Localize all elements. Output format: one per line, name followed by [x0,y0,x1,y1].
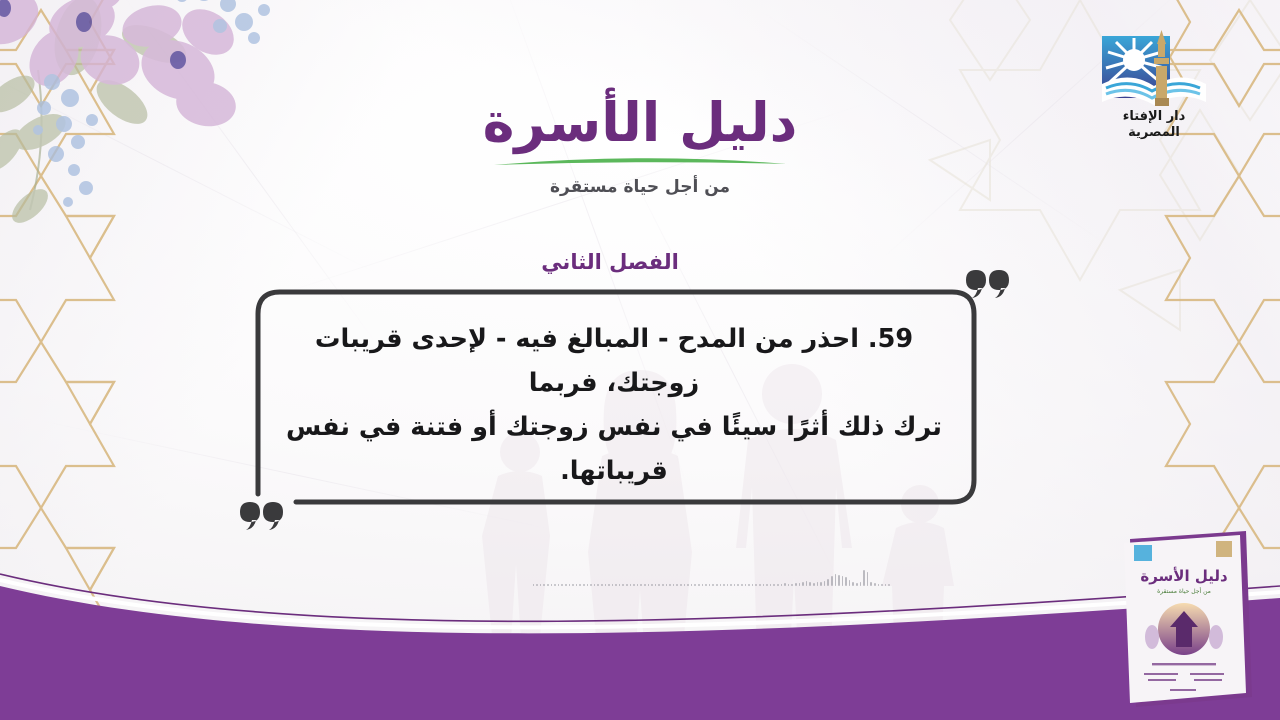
quote-text: 59. احذر من المدح - المبالغ فيه - لإحدى … [274,318,954,493]
quote-block: 59. احذر من المدح - المبالغ فيه - لإحدى … [236,282,996,512]
quote-mark-open-icon [966,268,1012,298]
book-cover-mockup: دليل الأسرة من أجل حياة مستقرة [1118,527,1258,712]
quote-line-1: 59. احذر من المدح - المبالغ فيه - لإحدى … [274,318,954,406]
quote-mark-close-icon [240,500,286,530]
quote-line-2: ترك ذلك أثرًا سيئًا في نفس زوجتك أو فتنة… [274,406,954,494]
green-swoosh-underline-icon [490,156,790,167]
program-subtitle: من أجل حياة مستقرة [0,177,1280,197]
slide-canvas: دار الإفتاء المصرية دليل الأسرة من أجل ح… [0,0,1280,720]
bottom-purple-band [0,540,1280,720]
book-title: دليل الأسرة [1140,567,1228,585]
chapter-label-text: الفصل الثاني [541,250,679,274]
book-subtitle: من أجل حياة مستقرة [1157,587,1211,595]
program-title: دليل الأسرة [0,96,1280,150]
program-logo: دليل الأسرة من أجل حياة مستقرة [0,96,1280,197]
chapter-label: الفصل الثاني [0,250,1280,274]
